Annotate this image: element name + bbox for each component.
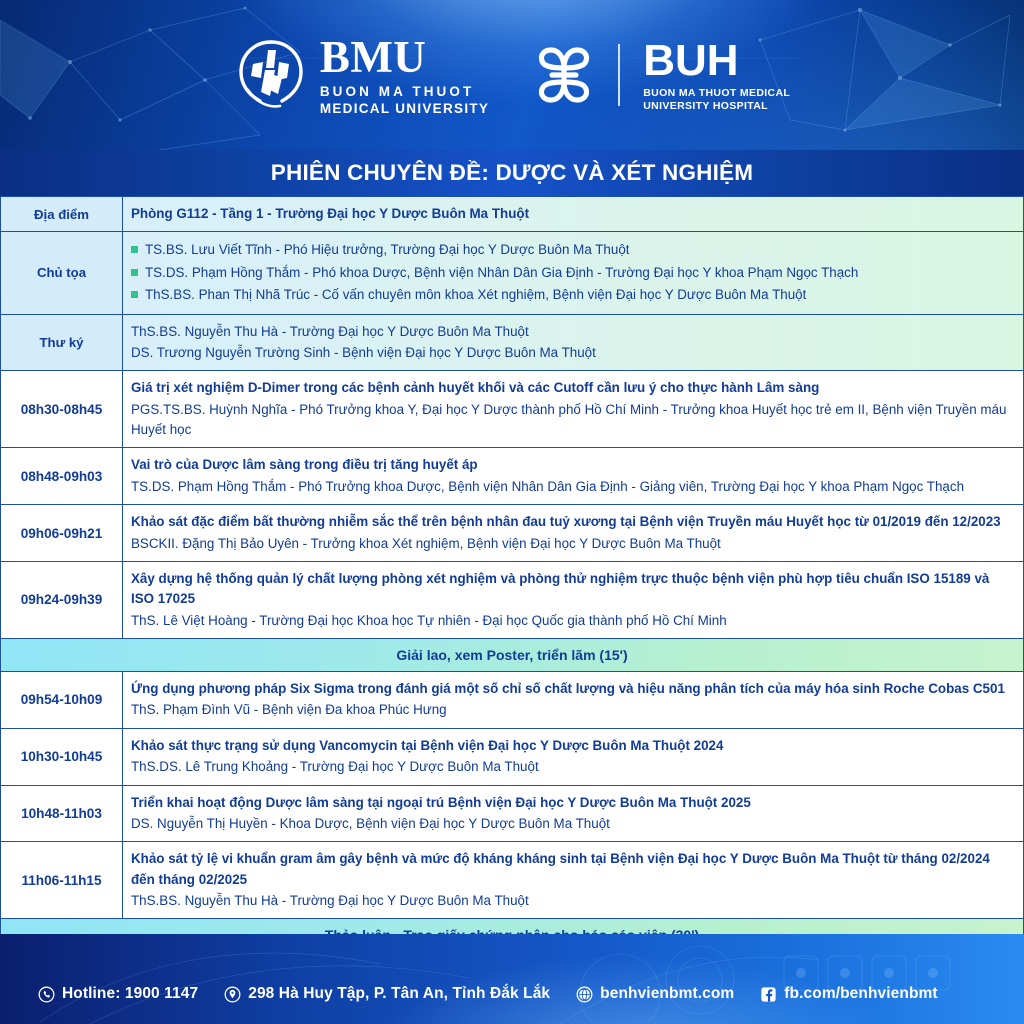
session-title: Khảo sát đặc điểm bất thường nhiễm sắc t…: [131, 512, 1015, 532]
square-bullet-icon: [131, 291, 138, 298]
square-bullet-icon: [131, 269, 138, 276]
footer-banner: Hotline: 1900 1147 298 Hà Huy Tập, P. Tâ…: [0, 934, 1024, 1024]
footer-hotline-text: Hotline: 1900 1147: [62, 985, 198, 1003]
footer-contact-bar: Hotline: 1900 1147 298 Hà Huy Tập, P. Tâ…: [0, 980, 1024, 1008]
cell-text-line: ThS.BS. Nguyễn Thu Hà - Trường Đại học Y…: [131, 322, 1015, 342]
table-row: Địa điểmPhòng G112 - Tầng 1 - Trường Đại…: [1, 197, 1024, 232]
table-row: 09h06-09h21Khảo sát đặc điểm bất thường …: [1, 505, 1024, 562]
session-speaker: PGS.TS.BS. Huỳnh Nghĩa - Phó Trưởng khoa…: [131, 400, 1015, 441]
session-speaker: ThS.BS. Nguyễn Thu Hà - Trường Đại học Y…: [131, 891, 1015, 911]
schedule-table: Địa điểmPhòng G112 - Tầng 1 - Trường Đại…: [0, 196, 1024, 952]
cell-text-line: TS.DS. Phạm Hồng Thắm - Phó khoa Dược, B…: [145, 263, 858, 283]
session-title: Ứng dụng phương pháp Six Sigma trong đán…: [131, 679, 1015, 699]
row-label: Địa điểm: [1, 197, 123, 232]
row-content: TS.BS. Lưu Viết Tĩnh - Phó Hiệu trưởng, …: [123, 232, 1024, 314]
footer-facebook-text: fb.com/benhvienbmt: [784, 985, 937, 1003]
session-content: Vai trò của Dược lâm sàng trong điều trị…: [123, 448, 1024, 505]
session-title: Xây dựng hệ thống quản lý chất lượng phò…: [131, 569, 1015, 610]
buh-emblem-icon: [533, 44, 595, 106]
phone-icon: [38, 986, 55, 1003]
session-time: 08h30-08h45: [1, 371, 123, 448]
square-bullet-icon: [131, 246, 138, 253]
row-label: Thư ký: [1, 314, 123, 371]
globe-icon: [576, 986, 593, 1003]
session-time: 09h06-09h21: [1, 505, 123, 562]
session-content: Ứng dụng phương pháp Six Sigma trong đán…: [123, 672, 1024, 729]
session-content: Giá trị xét nghiệm D-Dimer trong các bện…: [123, 371, 1024, 448]
session-speaker: BSCKII. Đặng Thị Bảo Uyên - Trưởng khoa …: [131, 534, 1015, 554]
session-time: 10h30-10h45: [1, 728, 123, 785]
footer-address[interactable]: 298 Hà Huy Tập, P. Tân An, Tỉnh Đắk Lắk: [224, 985, 550, 1003]
session-title: Khảo sát thực trạng sử dụng Vancomycin t…: [131, 736, 1015, 756]
session-title: Giá trị xét nghiệm D-Dimer trong các bện…: [131, 378, 1015, 398]
cell-text-line: ThS.BS. Phan Thị Nhã Trúc - Cố vấn chuyê…: [145, 285, 806, 305]
session-time: 08h48-09h03: [1, 448, 123, 505]
row-content: Phòng G112 - Tầng 1 - Trường Đại học Y D…: [123, 197, 1024, 232]
buh-subtitle-line2: UNIVERSITY HOSPITAL: [643, 101, 790, 112]
conference-schedule-poster: BMU BUON MA THUOT MEDICAL UNIVERSITY: [0, 0, 1024, 1024]
table-row: 11h06-11h15Khảo sát tỷ lệ vi khuẩn gram …: [1, 842, 1024, 919]
session-time: 09h24-09h39: [1, 561, 123, 638]
bulleted-item: TS.DS. Phạm Hồng Thắm - Phó khoa Dược, B…: [131, 263, 1015, 283]
session-content: Triển khai hoạt động Dược lâm sàng tại n…: [123, 785, 1024, 842]
footer-address-text: 298 Hà Huy Tập, P. Tân An, Tỉnh Đắk Lắk: [248, 985, 550, 1003]
table-row: Chủ tọaTS.BS. Lưu Viết Tĩnh - Phó Hiệu t…: [1, 232, 1024, 314]
row-content: ThS.BS. Nguyễn Thu Hà - Trường Đại học Y…: [123, 314, 1024, 371]
cell-text-line: Phòng G112 - Tầng 1 - Trường Đại học Y D…: [131, 204, 1015, 224]
session-title: Triển khai hoạt động Dược lâm sàng tại n…: [131, 793, 1015, 813]
location-pin-icon: [224, 986, 241, 1003]
table-row: 08h30-08h45Giá trị xét nghiệm D-Dimer tr…: [1, 371, 1024, 448]
session-speaker: TS.DS. Phạm Hồng Thắm - Phó Trưởng khoa …: [131, 477, 1015, 497]
bulleted-item: TS.BS. Lưu Viết Tĩnh - Phó Hiệu trưởng, …: [131, 240, 1015, 260]
header-banner: BMU BUON MA THUOT MEDICAL UNIVERSITY: [0, 0, 1024, 150]
bmu-subtitle-line1: BUON MA THUOT: [320, 85, 489, 99]
page-title: PHIÊN CHUYÊN ĐỀ: DƯỢC VÀ XÉT NGHIỆM: [271, 160, 753, 186]
session-speaker: ThS. Lê Việt Hoàng - Trường Đại học Khoa…: [131, 611, 1015, 631]
session-speaker: ThS.DS. Lê Trung Khoảng - Trường Đại học…: [131, 757, 1015, 777]
session-time: 11h06-11h15: [1, 842, 123, 919]
session-speaker: DS. Nguyễn Thị Huyền - Khoa Dược, Bệnh v…: [131, 814, 1015, 834]
session-title: Khảo sát tỷ lệ vi khuẩn gram âm gây bệnh…: [131, 849, 1015, 890]
bmu-acronym: BMU: [320, 35, 489, 80]
session-speaker: ThS. Phạm Đình Vũ - Bệnh viện Đa khoa Ph…: [131, 700, 1015, 720]
session-title-bar: PHIÊN CHUYÊN ĐỀ: DƯỢC VÀ XÉT NGHIỆM: [0, 150, 1024, 196]
footer-background-graphic: [0, 934, 1024, 1024]
footer-hotline[interactable]: Hotline: 1900 1147: [38, 985, 198, 1003]
table-row: 09h24-09h39Xây dựng hệ thống quản lý chấ…: [1, 561, 1024, 638]
facebook-icon: [760, 986, 777, 1003]
buh-logo: BUH BUON MA THUOT MEDICAL UNIVERSITY HOS…: [533, 39, 790, 112]
table-row: 09h54-10h09Ứng dụng phương pháp Six Sigm…: [1, 672, 1024, 729]
row-label: Chủ tọa: [1, 232, 123, 314]
session-content: Xây dựng hệ thống quản lý chất lượng phò…: [123, 561, 1024, 638]
table-row: Thư kýThS.BS. Nguyễn Thu Hà - Trường Đại…: [1, 314, 1024, 371]
footer-facebook[interactable]: fb.com/benhvienbmt: [760, 985, 937, 1003]
table-row: 08h48-09h03Vai trò của Dược lâm sàng tro…: [1, 448, 1024, 505]
session-content: Khảo sát thực trạng sử dụng Vancomycin t…: [123, 728, 1024, 785]
break-banner-row: Giải lao, xem Poster, triển lãm (15'): [1, 639, 1024, 672]
bmu-subtitle-line2: MEDICAL UNIVERSITY: [320, 102, 489, 116]
schedule-table-body: Địa điểmPhòng G112 - Tầng 1 - Trường Đại…: [1, 197, 1024, 952]
session-time: 10h48-11h03: [1, 785, 123, 842]
bmu-emblem-icon: [234, 38, 308, 112]
bulleted-item: ThS.BS. Phan Thị Nhã Trúc - Cố vấn chuyê…: [131, 285, 1015, 305]
session-time: 09h54-10h09: [1, 672, 123, 729]
logo-divider: [618, 44, 620, 106]
session-content: Khảo sát đặc điểm bất thường nhiễm sắc t…: [123, 505, 1024, 562]
footer-website-text: benhvienbmt.com: [600, 985, 734, 1003]
cell-text-line: DS. Trương Nguyễn Trường Sinh - Bệnh việ…: [131, 343, 1015, 363]
cell-text-line: TS.BS. Lưu Viết Tĩnh - Phó Hiệu trưởng, …: [145, 240, 629, 260]
buh-subtitle-line1: BUON MA THUOT MEDICAL: [643, 88, 790, 99]
table-row: 10h48-11h03Triển khai hoạt động Dược lâm…: [1, 785, 1024, 842]
session-title: Vai trò của Dược lâm sàng trong điều trị…: [131, 455, 1015, 475]
footer-website[interactable]: benhvienbmt.com: [576, 985, 734, 1003]
buh-acronym: BUH: [643, 39, 790, 83]
table-row: 10h30-10h45Khảo sát thực trạng sử dụng V…: [1, 728, 1024, 785]
logo-row: BMU BUON MA THUOT MEDICAL UNIVERSITY: [0, 0, 1024, 150]
bmu-logo: BMU BUON MA THUOT MEDICAL UNIVERSITY: [234, 35, 489, 115]
session-content: Khảo sát tỷ lệ vi khuẩn gram âm gây bệnh…: [123, 842, 1024, 919]
break-banner-text: Giải lao, xem Poster, triển lãm (15'): [1, 639, 1024, 672]
